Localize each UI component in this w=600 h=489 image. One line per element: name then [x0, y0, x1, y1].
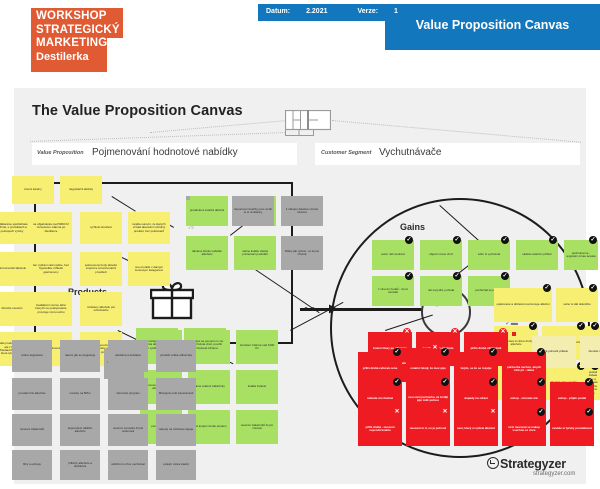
sticky-note-product-gray[interactable]: příběhy alkoholu a destilerek — [60, 450, 100, 480]
workshop-subtitle: Destilerka — [36, 51, 89, 63]
sticky-note-gain[interactable]: objevit novou chuť — [420, 240, 462, 270]
gain-marker-icon: ✓ — [441, 378, 449, 386]
sticky-note-pain[interactable] — [512, 332, 516, 336]
sticky-note-product-yellow[interactable]: filozofie ocenění — [0, 292, 30, 326]
sticky-note-product-yellow[interactable]: one produkt v dampm zenoucym kategoriem — [128, 252, 170, 286]
sticky-note-pain[interactable]: nevi, který si vybrat alkohol — [454, 412, 498, 446]
date-value: 2.2021 — [306, 8, 327, 15]
sticky-note-gain-creator[interactable]: máme kvalitu vlastni prezentaci produktů — [234, 236, 276, 270]
gain-marker-icon: ✓ — [501, 272, 509, 280]
sticky-note-product-yellow[interactable]: kvalita surovin, ze kterých vzniká absol… — [128, 212, 170, 244]
sticky-note-pain[interactable]: příliš drahá - neocení neprodá kvalitu — [358, 412, 402, 446]
sticky-note-product-yellow[interactable]: ber vybrání vaši vodice, bez hypotetiku … — [30, 252, 72, 286]
sticky-note-product-gray[interactable]: novinky na 5Phu — [60, 378, 100, 410]
sticky-note-job[interactable]: večer si dát skleničku — [556, 288, 598, 322]
version-group: Verze: 1 — [357, 8, 411, 15]
gain-marker-icon: ✓ — [589, 236, 597, 244]
date-group: Datum: 2.2021 — [266, 8, 342, 15]
workshop-line-1: WORKSHOP — [36, 10, 136, 24]
page-title: Value Proposition Canvas — [385, 18, 600, 32]
sticky-note-product-yellow[interactable]: na objednávku nad 5000 Kč rozvezeme zdar… — [30, 212, 72, 244]
strategyzer-brand: Strategyzer — [500, 457, 566, 471]
panel-title: The Value Proposition Canvas — [32, 103, 243, 119]
pain-marker-icon: ✕ — [441, 408, 449, 416]
sticky-note-gain-creator[interactable]: dáváme široku nabídku alkoholu — [186, 236, 228, 270]
sticky-note-gain[interactable]: nët svoj klid, pohoda — [420, 276, 462, 306]
pain-marker-icon: ✕ — [403, 328, 411, 336]
gain-marker-icon: ✓ — [405, 236, 413, 244]
sticky-note-product-gray[interactable]: wishlist co chce nechutnat — [108, 450, 148, 480]
sticky-note-gain-creator[interactable]: recenze zákazníků že jim chutnal — [236, 410, 278, 444]
sticky-note-product-yellow[interactable]: kvalitativní vzorce lahvi kterych ne pos… — [30, 292, 72, 326]
gain-marker-icon: ✓ — [577, 322, 585, 330]
gain-marker-icon: ✓ — [537, 378, 545, 386]
version-label: Verze: — [357, 8, 378, 15]
gain-marker-icon: ✓ — [489, 348, 497, 356]
version-value: 1 — [394, 8, 398, 15]
sticky-note-product-yellow[interactable]: rychlost doručení — [80, 212, 122, 244]
sticky-note-product-gray[interactable] — [186, 196, 190, 200]
sticky-note-product-yellow[interactable]: vzděláváme spotřebitele o firmě, o produ… — [0, 212, 30, 244]
gain-marker-icon: ✓ — [537, 348, 545, 356]
sticky-note-product-gray[interactable]: Minusprie-trub samostvesti — [156, 378, 196, 410]
gain-marker-icon: ✓ — [549, 236, 557, 244]
gain-marker-icon: ✓ — [453, 272, 461, 280]
sticky-note-gain-creator[interactable]: kvalita trvalost — [236, 370, 278, 404]
gain-marker-icon: ✓ — [543, 284, 551, 292]
sticky-note-gain[interactable]: večer nëli uvolnëni — [372, 240, 414, 270]
sticky-note-pain[interactable]: neocení to ti, co je pohostí — [406, 412, 450, 446]
pain-marker-icon: ✕ — [451, 328, 459, 336]
gain-marker-icon: ✓ — [589, 284, 597, 292]
pain-marker-icon: ✕ — [393, 408, 401, 416]
gain-marker-icon: ✓ — [585, 408, 593, 416]
sticky-note-job[interactable]: opakované a občasné konzumuje alkohol — [494, 288, 552, 322]
sticky-note-gain[interactable]: ukázat ostatním příbuh — [516, 240, 558, 270]
gain-marker-icon: ✓ — [585, 378, 593, 386]
gain-marker-icon: ✓ — [405, 272, 413, 280]
strategyzer-mark-icon — [487, 457, 499, 469]
sticky-note-gain[interactable]: pochutnat se - angnatní ornau ansata — [564, 240, 598, 270]
sticky-note-product-yellow[interactable]: miniatury alkoholu pro ochutnávku — [80, 292, 122, 326]
gain-marker-icon: ✓ — [393, 348, 401, 356]
sticky-note-pain[interactable]: neváže si lyžsky promëknout — [550, 412, 594, 446]
gain-marker-icon: ✓ — [529, 322, 537, 330]
gain-marker-icon: ✓ — [489, 378, 497, 386]
sticky-note-product-yellow[interactable]: roli komentář alkoholu — [0, 252, 30, 286]
sticky-note-product-gray[interactable]: doporucení teshby poro smitk te si omika… — [232, 196, 274, 226]
workshop-logo-text: WORKSHOP STRATEGICKÝ MARKETING — [36, 10, 136, 51]
sticky-note-product-gray[interactable]: věrnostní program — [108, 378, 148, 410]
value-proposition-value: Pojmenování hodnotové nabídky — [92, 147, 238, 158]
sticky-note-product-gray[interactable]: provádní list alkoholu — [12, 378, 52, 410]
pain-marker-icon: ✕ — [499, 328, 507, 336]
gain-marker-icon: ✓ — [501, 236, 509, 244]
gain-marker-icon: ✓ — [453, 236, 461, 244]
sticky-note-product-gray[interactable]: návod, jak se degustuje — [60, 340, 100, 372]
workshop-line-3: MARKETING — [36, 37, 136, 51]
sticky-note-product-gray[interactable]: návštěva a destilace — [108, 340, 148, 372]
strategyzer-url: strategyzer.com — [533, 471, 575, 477]
value-proposition-label: Value Proposition — [37, 150, 84, 156]
pain-marker-icon: ✕ — [431, 344, 439, 352]
sticky-note-product-yellow[interactable]: pokroucený body absolut expozice a konzu… — [80, 252, 122, 286]
gain-marker-icon: ✓ — [441, 348, 449, 356]
gain-marker-icon: ✓ — [537, 408, 545, 416]
customer-segment-label: Customer Segment — [321, 150, 371, 156]
sticky-note-gain[interactable]: sdím si vychutnat — [468, 240, 510, 270]
sticky-note-gain-creator[interactable]: doručení zdarma nad 1000 Kč — [236, 330, 278, 364]
sticky-note-pain[interactable]: mrzí mozuvat se nakup vsechno ze chce — [502, 412, 546, 446]
sticky-note-product-gray[interactable]: online degustace — [12, 340, 52, 372]
customer-segment-value: Vychutnávače — [379, 147, 441, 158]
sticky-note-product-gray[interactable]: pivodčit vnitka odbornika — [156, 340, 196, 372]
sticky-note-product-yellow[interactable]: krevní kariéry — [12, 176, 54, 204]
sticky-note-product-gray[interactable]: k nákupu dáváme vzorek zdarma — [281, 196, 323, 226]
meta-info: Datum: 2.2021 Verze: 1 — [266, 8, 426, 15]
sticky-note-product-gray[interactable]: vydejní místa vlastní — [156, 450, 196, 480]
sticky-note-product-gray[interactable]: Dárky jak vybrat - co komu chutná — [281, 236, 323, 270]
sticky-note-product-gray[interactable]: filtry a eshopu — [12, 450, 52, 480]
sticky-note-gain[interactable]: z vína do herálů - ziemi zariciáti — [372, 276, 414, 306]
sticky-note-job-pale[interactable]: zkoušet něco nového — [580, 336, 600, 368]
gain-marker-icon: ✓ — [591, 322, 599, 330]
sticky-note-gain-creator[interactable]: prodáváme kvalitní alkohol — [186, 196, 228, 226]
strategyzer-logo: Strategyzer — [487, 456, 566, 471]
sticky-note-product-gray[interactable]: návody na michaná nápoje — [156, 414, 196, 446]
sticky-note-product-yellow[interactable]: degustační aktivity — [60, 176, 102, 204]
sticky-note-product-gray[interactable]: recenze somelira či jiné osobnosti — [108, 414, 148, 446]
gain-marker-icon: ✓ — [393, 378, 401, 386]
sticky-note-product-gray[interactable]: recenze zákazníků — [12, 414, 52, 446]
canvas-schematic-icon — [285, 110, 331, 136]
workshop-line-2: STRATEGICKÝ — [36, 24, 136, 38]
sticky-note-product-gray[interactable]: doporučení dalšího alkoholu — [60, 414, 100, 446]
pain-marker-icon: ✕ — [489, 408, 497, 416]
gains-label: Gains — [400, 222, 425, 232]
date-label: Datum: — [266, 8, 290, 15]
